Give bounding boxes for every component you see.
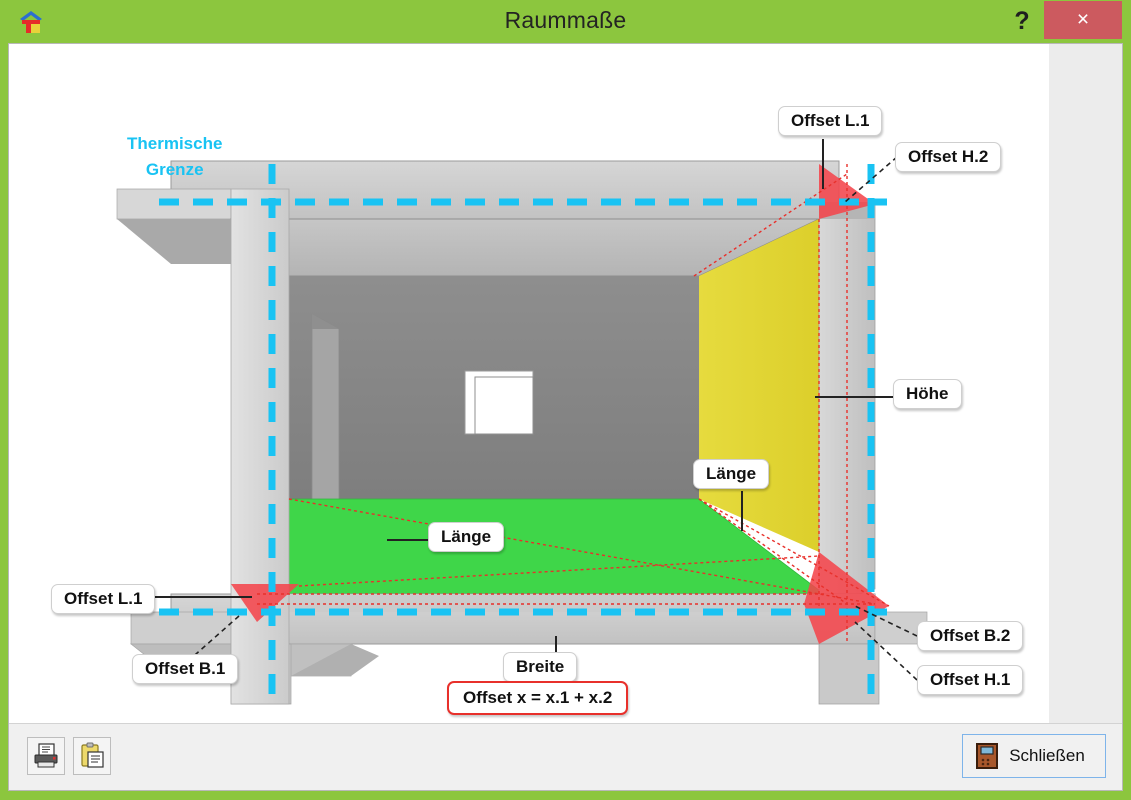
window-title: Raummaße [0,7,1131,34]
close-dialog-label: Schließen [999,746,1105,766]
label-offset-b2: Offset B.2 [917,621,1023,651]
printer-icon [31,741,61,771]
label-offset-l1-left: Offset L.1 [51,584,155,614]
title-bar: Raummaße ? × [0,0,1131,43]
label-laenge-wall: Länge [693,459,769,489]
help-button[interactable]: ? [1004,2,1040,40]
label-offset-formula: Offset x = x.1 + x.2 [447,681,628,715]
label-offset-b1: Offset B.1 [132,654,238,684]
label-laenge-floor: Länge [428,522,504,552]
label-offset-h1: Offset H.1 [917,665,1023,695]
label-hoehe: Höhe [893,379,962,409]
print-button[interactable] [27,737,65,775]
label-breite: Breite [503,652,577,682]
clipboard-icon [77,741,107,771]
client-area: Thermische Grenze Offset L.1 Offset H.2 … [8,43,1123,791]
label-offset-h2: Offset H.2 [895,142,1001,172]
bottom-toolbar: Schließen [9,723,1122,790]
canvas-right-padding [1049,44,1122,723]
close-window-button[interactable]: × [1044,1,1122,39]
close-dialog-button[interactable]: Schließen [962,734,1106,778]
door-icon [975,743,999,769]
label-offset-l1-top: Offset L.1 [778,106,882,136]
copy-to-clipboard-button[interactable] [73,737,111,775]
wall-area-highlight [699,219,819,552]
diagram-canvas: Thermische Grenze Offset L.1 Offset H.2 … [9,44,1049,723]
thermal-boundary-label: Thermische Grenze [127,131,222,182]
dialog-window: Raummaße ? × [0,0,1131,800]
